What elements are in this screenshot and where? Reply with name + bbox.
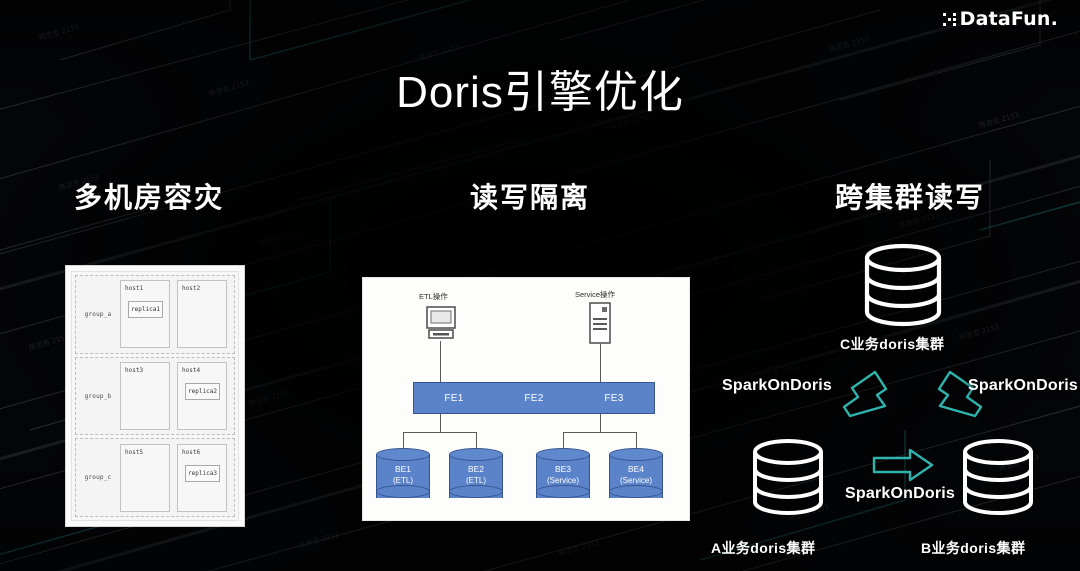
connector-be4-drop [636,432,637,448]
connector-be3-drop [563,432,564,448]
host-list: host5 host6 replica3 [120,444,234,512]
datafun-dots-logo-icon [943,13,956,26]
be-node-role: (ETL) [376,475,430,486]
desktop-computer-icon [426,306,456,340]
host-box: host3 [120,362,170,430]
svg-text:陈吉吉 2153: 陈吉吉 2153 [38,22,80,42]
fe-node-2: FE2 [494,393,574,404]
fe-node-1: FE1 [414,393,494,404]
replica-box: replica2 [185,383,220,400]
cluster-caption-a: A业务doris集群 [711,538,815,558]
host-name: host6 [182,449,222,456]
etl-operation-label: ETL操作 [419,291,448,302]
host-list: host1 replica1 host2 [120,280,234,348]
group-label: group_b [76,393,120,400]
host-name: host1 [125,285,165,292]
host-box: host4 replica2 [177,362,227,430]
svg-text:陈吉吉 2153: 陈吉吉 2153 [28,332,70,352]
logo-wordmark: DataFun. [960,8,1058,30]
page-title: Doris引擎优化 [0,56,1080,120]
group-row: group_a host1 replica1 host2 [75,275,235,354]
be-node-role: (Service) [536,475,590,486]
group-label: group_c [76,474,120,481]
svg-text:陈吉吉 2153: 陈吉吉 2153 [558,538,600,558]
cluster-caption-b: B业务doris集群 [921,538,1025,558]
svg-text:陈吉吉 2153: 陈吉吉 2153 [958,322,1000,342]
be-node-name: BE2 [449,464,503,475]
slide-canvas: 陈吉吉 2153 陈吉吉 2153 陈吉吉 2153 陈吉吉 2153 陈吉吉 … [0,0,1080,571]
spark-on-doris-label-b-to-c: SparkOnDoris [968,377,1078,395]
be-node-role: (ETL) [449,475,503,486]
arrow-up-right-icon [842,370,900,418]
be-node-name: BE4 [609,464,663,475]
host-name: host4 [182,367,222,374]
fe-cluster-bar: FE1 FE2 FE3 [413,382,655,414]
connector-etl-to-fe [440,341,441,383]
section-heading-cross-cluster: 跨集群读写 [790,176,1030,216]
replica-box: replica3 [185,465,220,482]
host-box: host5 [120,444,170,512]
connector-fe-right-bus [563,432,637,433]
replica-box: replica1 [128,301,163,318]
cluster-caption-c: C业务doris集群 [840,334,944,354]
host-box: host6 replica3 [177,444,227,512]
be-node: BE4 (Service) [609,448,663,504]
svg-text:陈吉吉 2153: 陈吉吉 2153 [298,530,340,550]
spark-on-doris-label-a-to-c: SparkOnDoris [722,377,832,395]
server-rack-icon [589,302,611,344]
spark-on-doris-label-a-to-b: SparkOnDoris [845,485,955,503]
host-list: host3 host4 replica2 [120,362,234,430]
multi-dc-inner-frame: group_a host1 replica1 host2 group_b [71,271,239,521]
group-row: group_c host5 host6 replica3 [75,438,235,517]
be-node-role: (Service) [609,475,663,486]
arrow-right-icon [872,448,934,482]
multi-datacenter-diagram: group_a host1 replica1 host2 group_b [65,265,245,527]
section-heading-rw-isolation: 读写隔离 [410,176,650,216]
database-cylinder-icon-c [864,243,942,327]
be-node-name: BE3 [536,464,590,475]
service-operation-label: Service操作 [575,289,615,300]
be-node: BE1 (ETL) [376,448,430,504]
database-cylinder-icon-b [962,438,1034,516]
section-heading-multi-dc: 多机房容灾 [24,176,274,216]
datafun-logo: DataFun. [943,8,1058,30]
group-row: group_b host3 host4 replica2 [75,357,235,436]
be-node-name: BE1 [376,464,430,475]
connector-fe-left-bus [403,432,477,433]
host-box: host2 [177,280,227,348]
svg-text:陈吉吉 2153: 陈吉吉 2153 [248,388,290,408]
connector-fe-left-stem [440,414,441,432]
host-name: host2 [182,285,222,292]
host-box: host1 replica1 [120,280,170,348]
connector-be1-drop [403,432,404,448]
svg-text:陈吉吉 2153: 陈吉吉 2153 [258,228,300,248]
fe-node-3: FE3 [574,393,654,404]
connector-be2-drop [476,432,477,448]
group-label: group_a [76,311,120,318]
host-name: host5 [125,449,165,456]
connector-service-to-fe [600,344,601,383]
be-node: BE3 (Service) [536,448,590,504]
database-cylinder-icon-a [752,438,824,516]
svg-text:陈吉吉 2153: 陈吉吉 2153 [698,250,740,270]
host-name: host3 [125,367,165,374]
connector-fe-right-stem [600,414,601,432]
be-node: BE2 (ETL) [449,448,503,504]
read-write-isolation-diagram: ETL操作 Service操作 FE1 FE2 [362,277,690,521]
